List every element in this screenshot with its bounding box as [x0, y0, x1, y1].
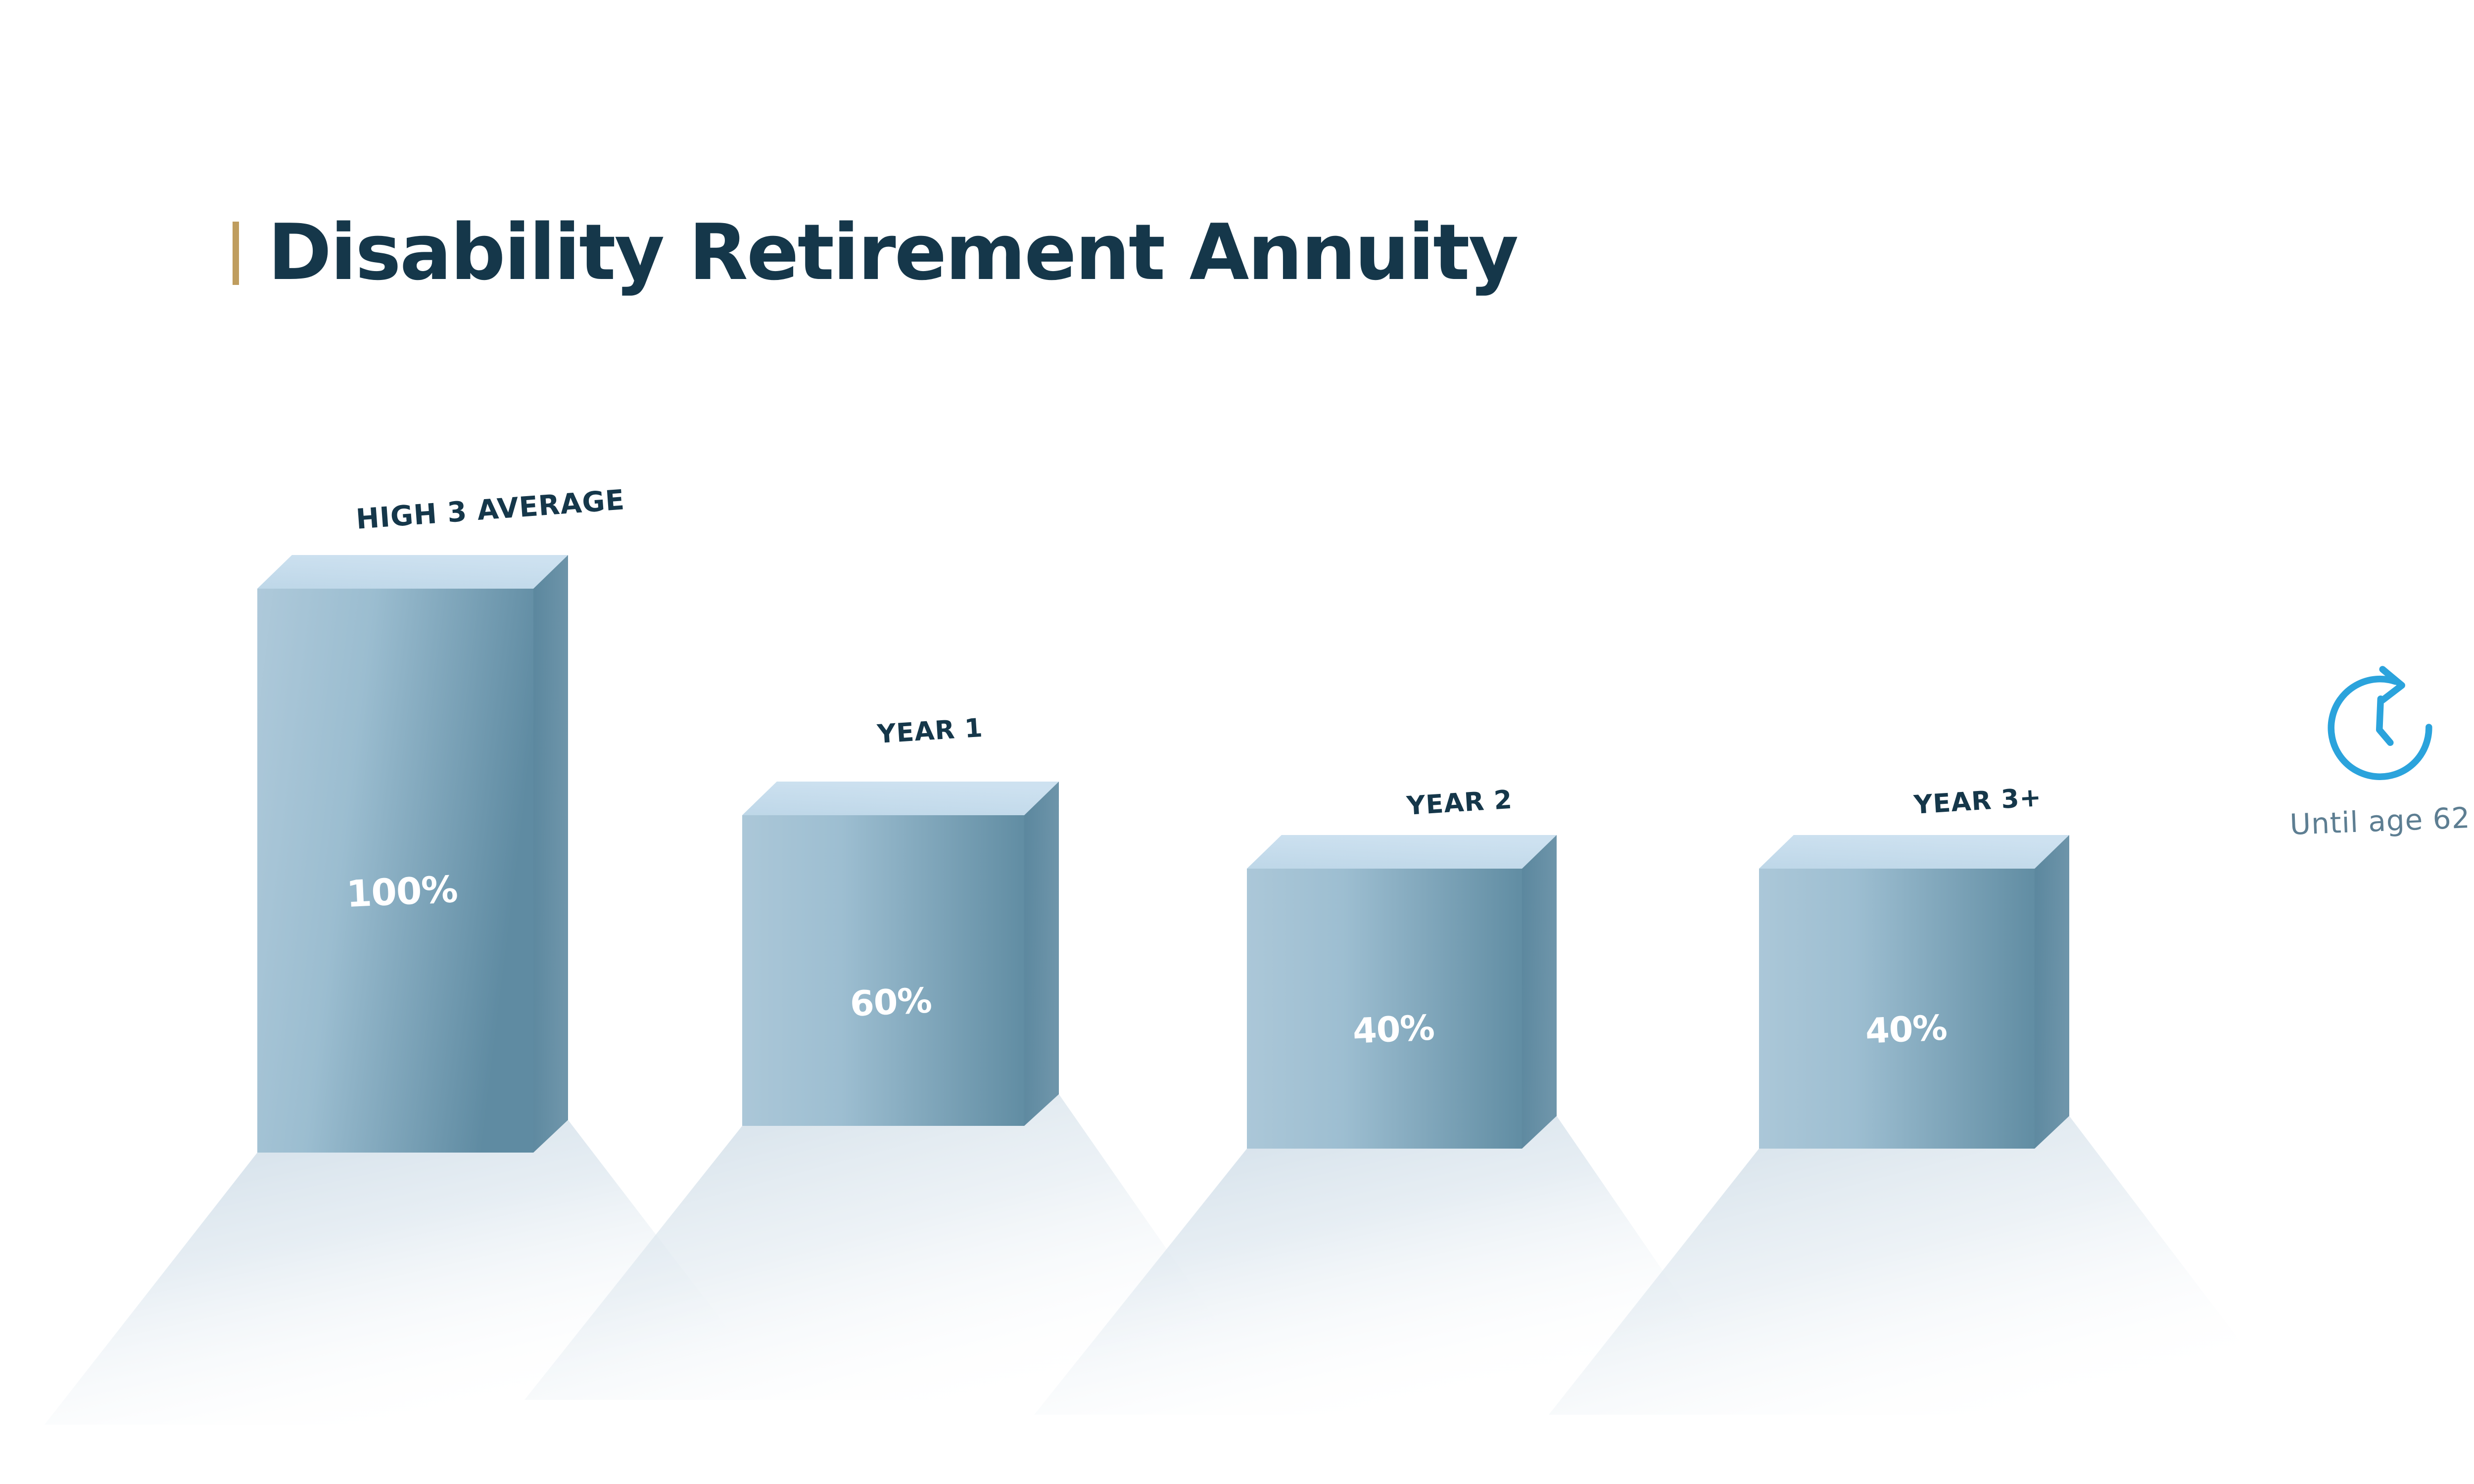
- bar-4-front-face: [1759, 869, 2035, 1149]
- bar-4-top-face: [1759, 835, 2069, 869]
- bar-year-2[interactable]: [1247, 835, 1557, 1149]
- bar-value-high-3-average: 100%: [345, 868, 458, 916]
- bar-chart-canvas: [0, 0, 2474, 1484]
- clock-arrow-icon-svg: [2316, 663, 2444, 791]
- bar-3-top-face: [1247, 835, 1557, 869]
- until-age-caption: Until age 62: [2236, 799, 2474, 843]
- bar-year-1[interactable]: [742, 782, 1059, 1126]
- until-age-note: Until age 62: [2236, 663, 2474, 838]
- bar-4-side-face: [2035, 835, 2069, 1149]
- bar-value-year-3-plus: 40%: [1864, 1007, 1948, 1051]
- bar-value-year-2: 40%: [1352, 1007, 1435, 1051]
- bar-1-top-face: [257, 555, 568, 589]
- bar-chart: HIGH 3 AVERAGE YEAR 1 YEAR 2 YEAR 3+ 100…: [0, 0, 2474, 1484]
- bar-2-side-face: [1024, 782, 1059, 1126]
- bar-high-3-average[interactable]: [257, 555, 568, 1153]
- bar-year-3-plus[interactable]: [1759, 835, 2069, 1149]
- clock-arrow-icon: [2236, 663, 2474, 791]
- bar-2-front-face: [742, 815, 1024, 1126]
- bar-shadow-4: [1549, 1116, 2296, 1415]
- bar-3-front-face: [1247, 869, 1522, 1149]
- bar-1-side-face: [533, 555, 568, 1153]
- bar-2-top-face: [742, 782, 1059, 815]
- bar-value-year-1: 60%: [849, 980, 932, 1024]
- bar-3-side-face: [1522, 835, 1557, 1149]
